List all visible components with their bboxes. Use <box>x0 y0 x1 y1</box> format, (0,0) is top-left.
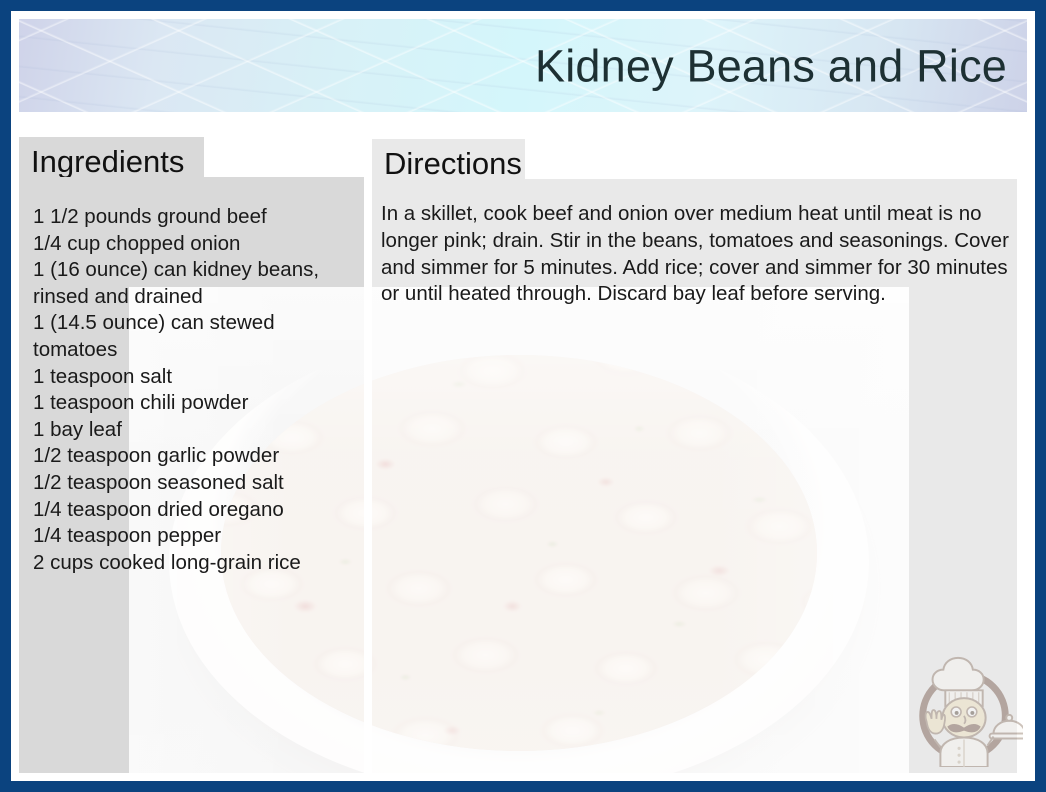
list-item: 1 teaspoon salt <box>33 364 363 391</box>
directions-text: In a skillet, cook beef and onion over m… <box>381 201 1010 308</box>
list-item: 1 (14.5 ounce) can stewed <box>33 310 363 337</box>
page-title: Kidney Beans and Rice <box>535 43 1007 88</box>
column-separator <box>364 177 372 773</box>
list-item: 1 1/2 pounds ground beef <box>33 204 363 231</box>
list-item: 1 teaspoon chili powder <box>33 390 363 417</box>
list-item: 1/2 teaspoon seasoned salt <box>33 470 363 497</box>
title-banner: Kidney Beans and Rice <box>19 19 1027 112</box>
recipe-card: Kidney Beans and Rice Ingredients 1 1/2 … <box>0 0 1046 792</box>
list-item: 2 cups cooked long-grain rice <box>33 550 363 577</box>
chef-mascot-logo <box>905 649 1023 767</box>
ingredients-list: 1 1/2 pounds ground beef 1/4 cup chopped… <box>33 204 363 576</box>
list-item: 1 bay leaf <box>33 417 363 444</box>
list-item: 1 (16 ounce) can kidney beans, <box>33 257 363 284</box>
list-item: 1/4 teaspoon dried oregano <box>33 497 363 524</box>
recipe-card-inner: Kidney Beans and Rice Ingredients 1 1/2 … <box>11 11 1035 781</box>
list-item: tomatoes <box>33 337 363 364</box>
list-item: rinsed and drained <box>33 284 363 311</box>
list-item: 1/4 teaspoon pepper <box>33 523 363 550</box>
list-item: 1/4 cup chopped onion <box>33 231 363 258</box>
list-item: 1/2 teaspoon garlic powder <box>33 443 363 470</box>
ingredients-panel: 1 1/2 pounds ground beef 1/4 cup chopped… <box>19 177 364 773</box>
